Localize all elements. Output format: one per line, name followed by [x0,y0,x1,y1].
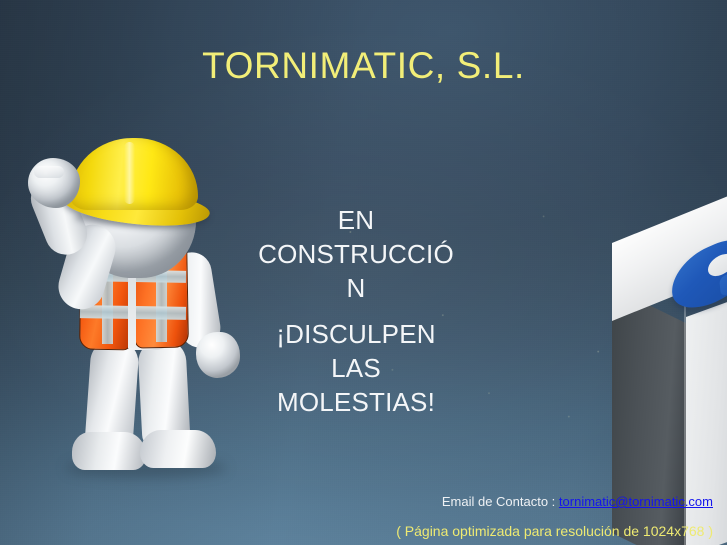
notice-line-construccio: CONSTRUCCIÓ [256,237,456,271]
contact-email-link[interactable]: tornimatic@tornimatic.com [559,494,713,509]
resolution-note: ( Página optimizada para resolución de 1… [253,521,713,541]
worker-right-hand [196,332,240,378]
worker-left-boot [72,432,146,470]
notice-line-molestias: MOLESTIAS! [256,385,456,419]
worker-right-boot [140,430,216,468]
under-construction-notice: EN CONSTRUCCIÓ N ¡DISCULPEN LAS MOLESTIA… [256,203,456,419]
page-root: TORNIMATIC, S.L. EN CONSTRUCCIÓ N ¡DISCU… [0,0,727,545]
page-title: TORNIMATIC, S.L. [0,44,727,88]
contact-email-label: Email de Contacto : [442,494,555,509]
notice-line-en: EN [256,203,456,237]
contact-email-line: Email de Contacto : tornimatic@tornimati… [253,491,713,512]
notice-line-disculpen: ¡DISCULPEN [256,317,456,351]
construction-worker-figure [8,140,270,485]
notice-line-las: LAS [256,351,456,385]
notice-line-n: N [256,271,456,305]
worker-hard-hat-highlight [124,142,135,204]
footer: Email de Contacto : tornimatic@tornimati… [253,491,713,541]
notice-spacer [256,305,456,317]
worker-fist-highlight [34,166,64,178]
